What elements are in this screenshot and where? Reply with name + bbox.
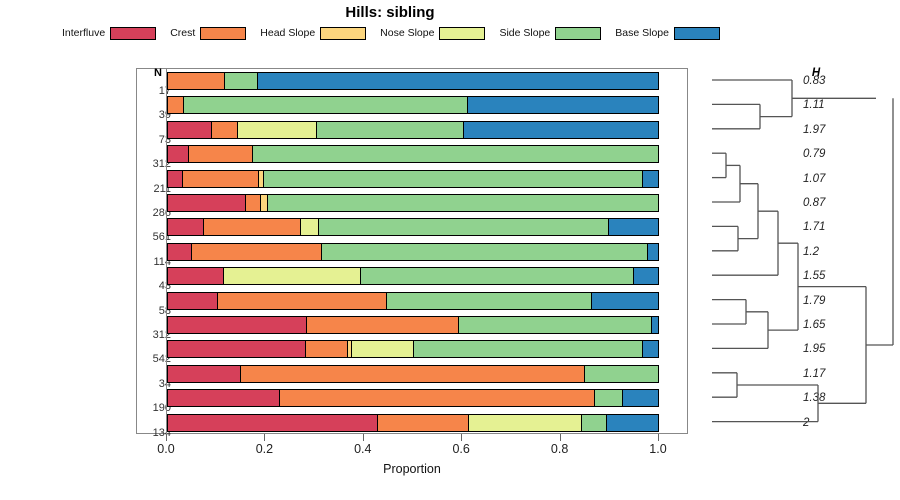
bar-segment-interfluve[interactable] [168,415,378,431]
bar-segment-crest[interactable] [183,171,259,187]
legend-swatch-base-slope [674,27,720,40]
bar-segment-side-slope[interactable] [582,415,607,431]
bar-segment-crest[interactable] [168,97,184,113]
stacked-bar[interactable] [167,267,659,285]
legend-swatch-nose-slope [439,27,485,40]
legend-label-head-slope: Head Slope [260,27,315,39]
x-axis-tick-label: 0.4 [343,442,383,456]
bar-segment-interfluve[interactable] [168,317,307,333]
bar-segment-side-slope[interactable] [585,366,658,382]
stacked-bar[interactable] [167,145,659,163]
bar-rows: NHPOMME170.83ESTATE391.11PORTIA731.97RUE… [137,69,687,433]
bar-segment-interfluve[interactable] [168,268,224,284]
bar-segment-crest[interactable] [218,293,387,309]
chart-row: COULSTONE1141.2 [137,240,687,264]
legend-label-side-slope: Side Slope [499,27,550,39]
x-axis-tick-label: 1.0 [638,442,678,456]
bar-segment-base-slope[interactable] [468,97,658,113]
chart-row: SCHOLTEN3121.65 [137,313,687,337]
legend-swatch-head-slope [320,27,366,40]
bar-segment-nose-slope[interactable] [469,415,582,431]
dendrogram-svg [700,60,900,440]
bar-segment-base-slope[interactable] [643,171,658,187]
bar-segment-interfluve[interactable] [168,122,212,138]
bar-segment-crest[interactable] [189,146,253,162]
bar-segment-side-slope[interactable] [319,219,609,235]
bar-segment-crest[interactable] [204,219,301,235]
chart-row: BODEN431.55 [137,264,687,288]
legend-swatch-side-slope [555,27,601,40]
stacked-bar[interactable] [167,316,659,334]
stacked-bar[interactable] [167,389,659,407]
bar-segment-interfluve[interactable] [168,293,218,309]
n-column-divider [166,68,167,434]
chart-row: RUETER3120.79 [137,142,687,166]
legend-swatch-crest [200,27,246,40]
stacked-bar[interactable] [167,121,659,139]
x-axis-tick-label: 0.2 [244,442,284,456]
bar-segment-side-slope[interactable] [459,317,652,333]
legend-item-head-slope: Head Slope [260,27,366,40]
x-axis-tick [166,434,167,441]
bar-segment-side-slope[interactable] [225,73,258,89]
bar-segment-crest[interactable] [378,415,469,431]
bar-segment-side-slope[interactable] [268,195,658,211]
plot-panel: NHPOMME170.83ESTATE391.11PORTIA731.97RUE… [136,68,688,434]
bar-segment-side-slope[interactable] [595,390,623,406]
bar-segment-interfluve[interactable] [168,390,280,406]
chart-legend: Interfluve Crest Head Slope Nose Slope S… [62,24,768,42]
stacked-bar[interactable] [167,292,659,310]
x-axis-tick [461,434,462,441]
bar-segment-base-slope[interactable] [634,268,658,284]
stacked-bar[interactable] [167,365,659,383]
bar-segment-base-slope[interactable] [607,415,658,431]
chart-row: PORTIA731.97 [137,118,687,142]
x-axis-tick-label: 0.8 [540,442,580,456]
chart-row: LILY5421.95 [137,337,687,361]
bar-segment-side-slope[interactable] [414,341,644,357]
legend-label-base-slope: Base Slope [615,27,669,39]
x-axis-tick-label: 0.6 [441,442,481,456]
stacked-bar[interactable] [167,96,659,114]
bar-segment-nose-slope[interactable] [352,341,414,357]
stacked-bar[interactable] [167,340,659,358]
chart-row: CAPTINA1342 [137,411,687,435]
page-title: Hills: sibling [0,4,780,21]
bar-segment-interfluve[interactable] [168,219,204,235]
bar-segment-base-slope[interactable] [648,244,658,260]
chart-row: NOARK2111.07 [137,167,687,191]
bar-segment-base-slope[interactable] [592,293,658,309]
bar-segment-crest[interactable] [280,390,595,406]
legend-label-nose-slope: Nose Slope [380,27,434,39]
bar-segment-side-slope[interactable] [387,293,593,309]
chart-row: PERIDGE581.79 [137,289,687,313]
bar-segment-side-slope[interactable] [317,122,464,138]
stacked-bar[interactable] [167,414,659,432]
x-axis-tick [264,434,265,441]
bar-segment-base-slope[interactable] [258,73,658,89]
bar-segment-interfluve[interactable] [168,341,306,357]
legend-item-base-slope: Base Slope [615,27,720,40]
bar-segment-interfluve[interactable] [168,171,183,187]
bar-segment-base-slope[interactable] [464,122,658,138]
bar-segment-interfluve[interactable] [168,146,189,162]
bar-segment-nose-slope[interactable] [238,122,317,138]
x-axis-tick [363,434,364,441]
bar-segment-crest[interactable] [306,341,348,357]
bar-segment-head-slope[interactable] [261,195,269,211]
legend-item-side-slope: Side Slope [499,27,601,40]
x-axis-title: Proportion [136,462,688,476]
stacked-bar[interactable] [167,72,659,90]
chart-row: MOKO2860.87 [137,191,687,215]
stacked-bar[interactable] [167,170,659,188]
bar-segment-base-slope[interactable] [609,219,658,235]
bar-segment-interfluve[interactable] [168,366,241,382]
bar-segment-side-slope[interactable] [264,171,644,187]
stacked-bar[interactable] [167,194,659,212]
bar-segment-side-slope[interactable] [184,97,468,113]
bar-segment-crest[interactable] [241,366,585,382]
bar-segment-nose-slope[interactable] [224,268,361,284]
bar-segment-base-slope[interactable] [623,390,658,406]
bar-segment-crest[interactable] [192,244,322,260]
bar-segment-side-slope[interactable] [253,146,658,162]
bar-segment-crest[interactable] [168,73,225,89]
chart-row: TONTI1901.38 [137,386,687,410]
chart-row: ESTATE391.11 [137,93,687,117]
bar-segment-interfluve[interactable] [168,195,246,211]
legend-item-nose-slope: Nose Slope [380,27,485,40]
bar-segment-nose-slope[interactable] [301,219,319,235]
chart-row: HOBSON341.17 [137,362,687,386]
legend-label-interfluve: Interfluve [62,27,105,39]
bar-segment-base-slope[interactable] [652,317,658,333]
x-axis-tick-label: 0.0 [146,442,186,456]
chart-row: CLARKSVILLE5611.71 [137,215,687,239]
legend-label-crest: Crest [170,27,195,39]
legend-item-interfluve: Interfluve [62,27,156,40]
chart-row: POMME170.83 [137,69,687,93]
bar-segment-side-slope[interactable] [322,244,648,260]
bar-segment-side-slope[interactable] [361,268,634,284]
legend-item-crest: Crest [170,27,246,40]
x-axis-tick [658,434,659,441]
bar-segment-crest[interactable] [307,317,459,333]
dendrogram [700,60,900,440]
bar-segment-crest[interactable] [246,195,261,211]
x-axis-tick [560,434,561,441]
dendrogram-links [712,80,893,422]
stacked-bar[interactable] [167,218,659,236]
legend-swatch-interfluve [110,27,156,40]
bar-segment-interfluve[interactable] [168,244,192,260]
bar-segment-crest[interactable] [212,122,238,138]
bar-segment-base-slope[interactable] [643,341,658,357]
stacked-bar[interactable] [167,243,659,261]
